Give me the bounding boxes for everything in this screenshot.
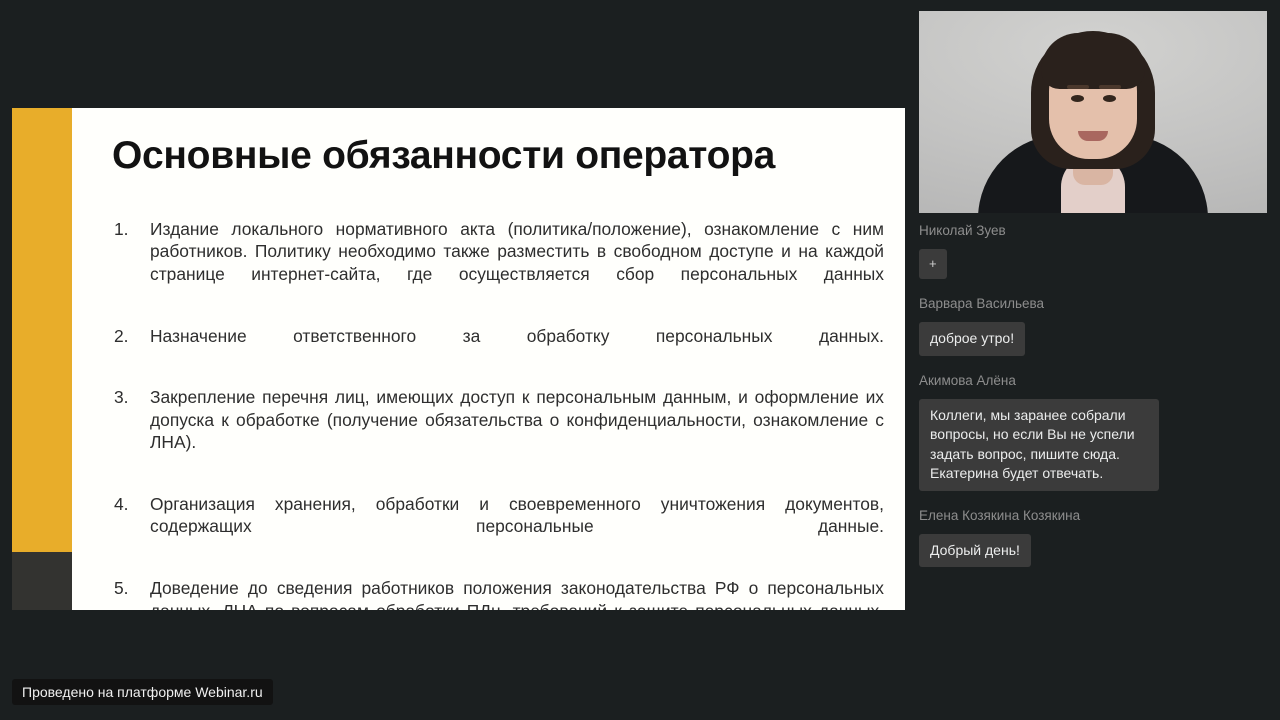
presenter-webcam-icon — [919, 11, 1267, 213]
slide-list-item: 4. Организация хранения, обработки и сво… — [112, 493, 884, 560]
presenter-brow-left — [1067, 85, 1089, 89]
chat-message-bubble[interactable]: доброе утро! — [919, 322, 1025, 356]
slide-list-item-text: Закрепление перечня лиц, имеющих доступ … — [150, 386, 884, 476]
platform-watermark: Проведено на платформе Webinar.ru — [12, 679, 273, 705]
presenter-video-tile[interactable] — [919, 11, 1267, 213]
slide-accent-foot — [12, 552, 72, 610]
slide-list-item-number: 4. — [114, 493, 140, 515]
slide-list-item-number: 1. — [114, 218, 140, 240]
presentation-stage[interactable]: Основные обязанности оператора 1. Издани… — [0, 0, 908, 720]
presenter-hair-top — [1041, 33, 1145, 89]
chat-panel[interactable]: Николай Зуев + Варвара Васильева доброе … — [908, 222, 1280, 720]
chat-message-bubble[interactable]: Добрый день! — [919, 534, 1031, 568]
slide-list-item-text: Организация хранения, обработки и своевр… — [150, 493, 884, 560]
chat-message-author: Елена Козякина Козякина — [919, 507, 1266, 525]
chat-message: Варвара Васильева доброе утро! — [908, 295, 1280, 356]
chat-message-author: Варвара Васильева — [919, 295, 1266, 313]
presenter-eye-left — [1071, 95, 1084, 102]
webinar-player: Основные обязанности оператора 1. Издани… — [0, 0, 1280, 720]
slide-list-item: 2. Назначение ответственного за обработк… — [112, 325, 884, 370]
chat-message-author: Николай Зуев — [919, 222, 1266, 240]
chat-message-bubble[interactable]: + — [919, 249, 947, 279]
presenter-brow-right — [1099, 85, 1121, 89]
chat-message: Елена Козякина Козякина Добрый день! — [908, 507, 1280, 568]
slide-list-item: 3. Закрепление перечня лиц, имеющих дост… — [112, 386, 884, 476]
slide-list-item: 1. Издание локального нормативного акта … — [112, 218, 884, 308]
slide-accent-bar — [12, 108, 72, 552]
slide-list-item: 5. Доведение до сведения работников поло… — [112, 577, 884, 610]
slide[interactable]: Основные обязанности оператора 1. Издани… — [12, 108, 905, 610]
slide-list-item-number: 3. — [114, 386, 140, 408]
chat-message: Акимова Алёна Коллеги, мы заранее собрал… — [908, 372, 1280, 491]
presenter-eye-right — [1103, 95, 1116, 102]
chat-message: Николай Зуев + — [908, 222, 1280, 279]
slide-list-item-text: Издание локального нормативного акта (по… — [150, 218, 884, 308]
right-rail: Николай Зуев + Варвара Васильева доброе … — [908, 0, 1280, 720]
slide-list-item-number: 5. — [114, 577, 140, 599]
slide-content: Основные обязанности оператора 1. Издани… — [112, 108, 905, 610]
slide-title: Основные обязанности оператора — [112, 134, 872, 178]
slide-list-item-number: 2. — [114, 325, 140, 347]
chat-message-bubble[interactable]: Коллеги, мы заранее собрали вопросы, но … — [919, 399, 1159, 491]
slide-list-item-text: Доведение до сведения работников положен… — [150, 577, 884, 610]
slide-list: 1. Издание локального нормативного акта … — [112, 218, 884, 610]
chat-message-author: Акимова Алёна — [919, 372, 1266, 390]
slide-list-item-text: Назначение ответственного за обработку п… — [150, 325, 884, 370]
